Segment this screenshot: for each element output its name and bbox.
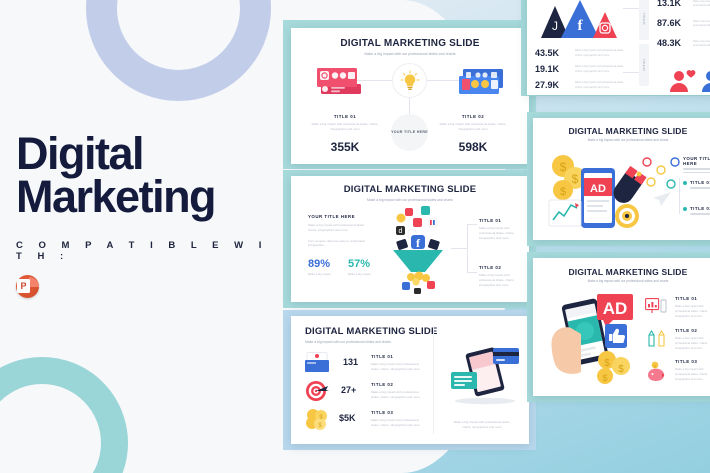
slide-r1-left-stat-3-value: 27.9K — [535, 80, 557, 90]
piggy-bank-icon: $ — [645, 361, 667, 381]
slide-1-column-2: TITLE 02 Make a big impact with professi… — [439, 114, 507, 154]
slide-1-col1-heading: TITLE 01 — [311, 114, 379, 119]
tablet-chat-illustration — [449, 346, 521, 413]
slide-3-row-3-heading: TITLE 03 — [371, 410, 423, 415]
slide-r3-item-1-body: Make a big impact with professional slid… — [675, 304, 710, 318]
slide-r3-item-1-heading: TITLE 01 — [675, 296, 710, 301]
slide-2-right-item-1-heading: TITLE 01 — [479, 218, 521, 223]
slide-2-percent-1-caption: Make a big impact — [308, 272, 331, 276]
slide-r3-item-2-text: TITLE 02 Make a big impact with professi… — [675, 328, 710, 350]
pencil-ruler-icon — [645, 330, 667, 348]
svg-text:$: $ — [572, 172, 579, 186]
slide-2-right-item-2-heading: TITLE 02 — [479, 265, 521, 270]
slide-r1-right-stat-3-body: Make a big impact with professional slid… — [693, 40, 710, 49]
social-funnel-illustration: d f — [383, 204, 453, 299]
slide-2-right-item-2-body: Make a big impact with professional slid… — [479, 273, 521, 287]
social-media-card-icon — [317, 66, 367, 101]
slide-2-percent-2-value: 57% — [348, 258, 371, 270]
slide-3-row-2-text: TITLE 02 Make a big impact with professi… — [371, 382, 423, 400]
slide-r2-placeholder-line-2 — [683, 172, 710, 174]
slide-3-title: DIGITAL MARKETING SLIDE — [305, 326, 529, 337]
slide-2-right-item-1: TITLE 01 Make a big impact with professi… — [479, 218, 521, 240]
svg-text:AD: AD — [590, 183, 606, 195]
powerpoint-icon: P — [16, 275, 39, 298]
slide-2-bracket-top — [467, 224, 477, 225]
slide-r1-left-stat-1-value: 43.5K — [535, 48, 557, 58]
slide-1-col2-heading: TITLE 02 — [439, 114, 507, 119]
slide-2[interactable]: DIGITAL MARKETING SLIDE Make a big impac… — [291, 176, 529, 302]
slide-2-left-block: YOUR TITLE HERE Make a big impact with p… — [308, 214, 374, 248]
slide-r2-subtitle: Make a big impact with our professional … — [533, 138, 710, 142]
slide-3-row-2-value: 27+ — [341, 385, 356, 395]
slide-r3-item-1-icon — [645, 298, 667, 321]
slide-r1-bar-1: TITLE 01 — [639, 0, 649, 40]
slide-r1-right-stat-3: 48.3K — [657, 38, 681, 48]
svg-text:$: $ — [560, 186, 566, 198]
slide-2-left-heading: YOUR TITLE HERE — [308, 214, 374, 219]
slide-2-percent-2-caption: Make a big impact — [348, 272, 371, 276]
slide-2-percent-1: 89% Make a big impact — [308, 258, 331, 276]
stat-value: 87.6K — [657, 18, 681, 28]
compatible-with-label: C O M P A T I B L E W I T H : — [16, 240, 278, 262]
slide-r3-title: DIGITAL MARKETING SLIDE — [533, 267, 710, 277]
slide-r1-right-stat-2: 87.6K — [657, 18, 681, 28]
slide-3-subtitle: Make a big impact with our professional … — [305, 340, 529, 344]
slide-r1-connector-2 — [623, 72, 639, 73]
compatible-apps-row: P — [16, 275, 278, 298]
social-triangles-chart: J f — [537, 0, 623, 49]
slide-3-row-3: $ $ — [305, 408, 331, 435]
slide-3[interactable]: DIGITAL MARKETING SLIDE Make a big impac… — [291, 316, 529, 444]
slide-r1-bar-2-label: TITLE 02 — [642, 59, 646, 69]
slide-1[interactable]: DIGITAL MARKETING SLIDE Make a big impac… — [291, 28, 529, 164]
svg-text:d: d — [399, 228, 403, 235]
slide-2-bracket-stem — [451, 248, 467, 249]
poster-title-line2: Marketing — [16, 175, 278, 218]
stat-value: 13.1K — [657, 0, 681, 8]
slide-3-row-2 — [305, 380, 331, 407]
slide-2-title: DIGITAL MARKETING SLIDE — [291, 184, 529, 195]
slide-r3-item-2-heading: TITLE 02 — [675, 328, 710, 333]
lightbulb-icon — [400, 70, 420, 92]
slide-1-col1-value: 355K — [311, 140, 379, 154]
slide-3-row-3-text: TITLE 03 Make a big impact with professi… — [371, 410, 423, 428]
slide-r1-left-stat-1-body: Make a big impact with professional slid… — [575, 49, 631, 58]
slide-r1-connector-1 — [623, 8, 639, 9]
slide-r3-item-3-text: TITLE 03 Make a big impact with professi… — [675, 359, 710, 381]
slide-1-center-label: YOUR TITLE HERE — [391, 130, 428, 135]
stat-value: 43.5K — [535, 48, 557, 58]
slide-r3-item-2-body: Make a big impact with professional slid… — [675, 336, 710, 350]
marketing-megaphone-illustration: $ $ $ AD — [543, 148, 691, 239]
slide-r1[interactable]: J f 43.5K Make a big impact with profess… — [527, 0, 710, 95]
slide-r1-right-stat-1-body: Make a big impact with professional slid… — [693, 0, 710, 9]
coins-icon: $ $ — [305, 408, 331, 430]
slide-r2-bullet-2: TITLE 02 — [683, 206, 710, 215]
svg-text:AD: AD — [603, 299, 628, 318]
svg-text:$: $ — [560, 160, 567, 174]
slide-r1-right-stat-2-body: Make a big impact with professional slid… — [693, 20, 710, 29]
slide-1-title: DIGITAL MARKETING SLIDE — [291, 38, 529, 49]
slide-r1-left-stat-3-body: Make a big impact with professional slid… — [575, 81, 631, 90]
svg-text:J: J — [552, 19, 558, 33]
slide-r2-bullet-2-label: TITLE 02 — [690, 206, 710, 211]
slide-r3-item-3-icon: $ — [645, 361, 667, 386]
slide-r1-right-stat-1: 13.1K — [657, 0, 681, 8]
presentation-icon — [645, 298, 667, 316]
slide-r2-bullet-1-line — [690, 187, 710, 189]
slide-2-left-body-2: Turn complex data into easy to understan… — [308, 239, 374, 249]
slide-r2-title: DIGITAL MARKETING SLIDE — [533, 126, 710, 136]
slide-2-percent-2: 57% Make a big impact — [348, 258, 371, 276]
slide-r2-bullet-rail — [679, 178, 680, 214]
slide-3-row-1-text: TITLE 01 Make a big impact with professi… — [371, 354, 423, 372]
hand-phone-ad-illustration: AD $ $ $ — [547, 290, 645, 393]
target-dart-icon — [305, 380, 331, 402]
slide-r2-right-block: YOUR TITLE HERE — [683, 156, 710, 173]
slide-1-subtitle: Make a big impact with our professional … — [291, 52, 529, 56]
slide-2-percent-1-value: 89% — [308, 258, 331, 270]
slide-3-row-1-heading: TITLE 01 — [371, 354, 423, 359]
slide-r2-bullet-2-line — [690, 213, 710, 215]
slide-3-row-1-body: Make a big impact with professional slid… — [371, 362, 423, 372]
slide-3-row-2-body: Make a big impact with professional slid… — [371, 390, 423, 400]
slide-r2-bullet-1: TITLE 01 — [683, 180, 710, 189]
stat-value: 19.1K — [535, 64, 557, 74]
slide-1-center-label-circle: YOUR TITLE HERE — [391, 114, 428, 151]
slide-3-row-3-value: $5K — [339, 413, 356, 423]
poster-title-block: Digital Marketing C O M P A T I B L E W … — [16, 132, 278, 298]
slide-r3-item-3-body: Make a big impact with professional slid… — [675, 367, 710, 381]
slide-2-bracket-vertical — [467, 224, 468, 272]
slide-1-col2-body: Make a big impact with professional slid… — [439, 122, 507, 131]
slide-r2[interactable]: DIGITAL MARKETING SLIDE Make a big impac… — [533, 118, 710, 240]
slide-3-caption: Make a big impact with professional slid… — [451, 420, 513, 430]
slide-r1-bar-1-label: TITLE 01 — [642, 13, 646, 23]
slide-r3-item-3-heading: TITLE 03 — [675, 359, 710, 364]
poster-canvas: Digital Marketing C O M P A T I B L E W … — [0, 0, 710, 473]
stat-value: 48.3K — [657, 38, 681, 48]
slide-r1-bar-2: TITLE 02 — [639, 44, 649, 86]
slide-r3[interactable]: DIGITAL MARKETING SLIDE Make a big impac… — [533, 258, 710, 396]
browser-window-icon — [305, 352, 331, 374]
slide-3-row-1 — [305, 352, 331, 379]
slide-2-bracket-bottom — [467, 272, 477, 273]
slide-2-left-body-1: Make a big impact with professional slid… — [308, 223, 374, 233]
people-heart-icon — [667, 66, 710, 95]
slide-r3-subtitle: Make a big impact with our professional … — [533, 279, 710, 283]
slide-2-right-item-2: TITLE 02 Make a big impact with professi… — [479, 265, 521, 287]
slide-3-divider — [433, 326, 434, 434]
lightbulb-circle — [392, 63, 427, 98]
slide-2-right-item-1-body: Make a big impact with professional slid… — [479, 226, 521, 240]
slide-r3-item-2-icon — [645, 330, 667, 353]
svg-text:$: $ — [602, 373, 607, 383]
svg-text:$: $ — [618, 364, 624, 375]
slide-r2-placeholder-line-1 — [683, 168, 710, 170]
bullet-dot-icon — [683, 181, 687, 185]
slide-1-column-1: TITLE 01 Make a big impact with professi… — [311, 114, 379, 154]
poster-title-line1: Digital — [16, 132, 278, 175]
social-dashboard-icon — [453, 66, 505, 103]
slide-1-col1-body: Make a big impact with professional slid… — [311, 122, 379, 131]
slide-r1-left-stat-2-value: 19.1K — [535, 64, 557, 74]
stat-value: 27.9K — [535, 80, 557, 90]
slide-3-row-3-body: Make a big impact with professional slid… — [371, 418, 423, 428]
slide-r3-item-1-text: TITLE 01 Make a big impact with professi… — [675, 296, 710, 318]
slide-2-subtitle: Make a big impact with our professional … — [291, 198, 529, 202]
slide-r2-bullet-1-label: TITLE 01 — [690, 180, 710, 185]
slide-3-row-2-heading: TITLE 02 — [371, 382, 423, 387]
powerpoint-icon-letter: P — [17, 279, 30, 293]
slide-r2-right-heading: YOUR TITLE HERE — [683, 156, 710, 166]
slide-1-col2-value: 598K — [439, 140, 507, 154]
slide-3-row-1-value: 131 — [343, 357, 358, 367]
svg-text:$: $ — [604, 358, 610, 369]
bullet-dot-icon — [683, 207, 687, 211]
